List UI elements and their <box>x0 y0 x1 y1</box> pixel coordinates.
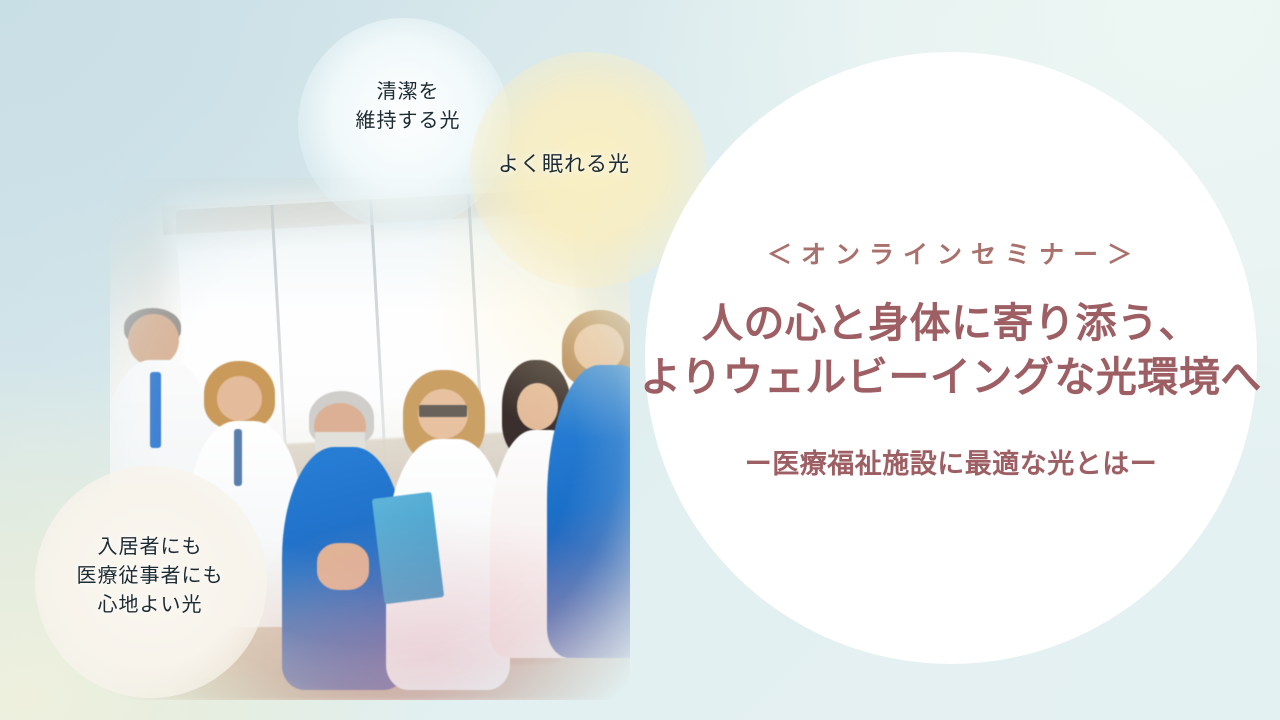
seminar-headline-line-1: 人の心と身体に寄り添う、 <box>702 300 1200 346</box>
caption-comfort-light: 入居者にも 医療従事者にも 心地よい光 <box>50 533 250 620</box>
seminar-headline-line-2: よりウェルビーイングな光環境へ <box>640 351 1262 404</box>
seminar-banner: 清潔を 維持する光 よく眠れる光 入居者にも 医療従事者にも 心地よい光 ＜オン… <box>0 0 1280 720</box>
photo-color-tint-overlay <box>110 178 630 700</box>
seminar-headline: 人の心と身体に寄り添う、 よりウェルビーイングな光環境へ <box>640 297 1262 404</box>
caption-clean-light: 清潔を 維持する光 <box>318 78 498 136</box>
photo-content <box>110 178 630 700</box>
caption-sleep-light: よく眠れる光 <box>484 150 644 180</box>
seminar-eyebrow-label: ＜オンラインセミナー＞ <box>767 235 1141 271</box>
medical-staff-photo <box>110 178 630 700</box>
seminar-subline: ー医療福祉施設に最適な光とはー <box>745 442 1158 481</box>
seminar-copy-block: ＜オンラインセミナー＞ 人の心と身体に寄り添う、 よりウェルビーイングな光環境へ… <box>645 52 1257 664</box>
